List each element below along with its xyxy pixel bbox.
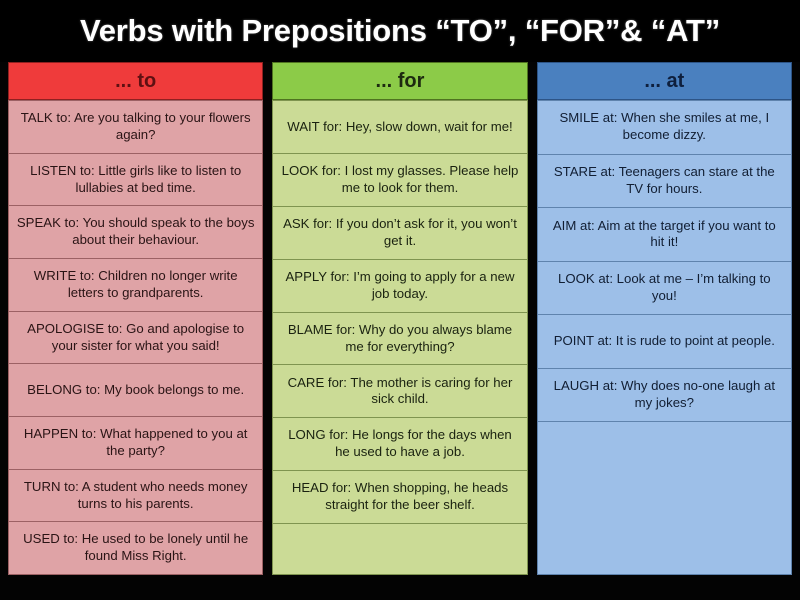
list-item: AIM at: Aim at the target if you want to… [537, 208, 792, 262]
cell-text: USED to: He used to be lonely until he f… [16, 531, 255, 565]
list-item: BELONG to: My book belongs to me. [8, 364, 263, 417]
cell-text: AIM at: Aim at the target if you want to… [545, 218, 784, 252]
list-item: WAIT for: Hey, slow down, wait for me! [272, 100, 527, 154]
empty-cell [537, 422, 792, 575]
cell-text: SPEAK to: You should speak to the boys a… [16, 215, 255, 249]
list-item: LONG for: He longs for the days when he … [272, 418, 527, 471]
cell-text: WAIT for: Hey, slow down, wait for me! [280, 119, 519, 136]
list-item: USED to: He used to be lonely until he f… [8, 522, 263, 575]
list-item: POINT at: It is rude to point at people. [537, 315, 792, 369]
list-item: HAPPEN to: What happened to you at the p… [8, 417, 263, 470]
list-item: LOOK at: Look at me – I’m talking to you… [537, 262, 792, 316]
cell-text: LAUGH at: Why does no-one laugh at my jo… [545, 378, 784, 412]
cell-text: POINT at: It is rude to point at people. [545, 333, 784, 350]
cell-text: APPLY for: I’m going to apply for a new … [280, 269, 519, 303]
cell-text: LONG for: He longs for the days when he … [280, 427, 519, 461]
cell-text: LISTEN to: Little girls like to listen t… [16, 163, 255, 197]
column-cells-at: SMILE at: When she smiles at me, I becom… [537, 100, 792, 575]
list-item: STARE at: Teenagers can stare at the TV … [537, 155, 792, 209]
list-item: HEAD for: When shopping, he heads straig… [272, 471, 527, 524]
cell-text: HEAD for: When shopping, he heads straig… [280, 480, 519, 514]
column-to: ... to TALK to: Are you talking to your … [8, 62, 263, 575]
column-cells-to: TALK to: Are you talking to your flowers… [8, 100, 263, 575]
column-at: ... at SMILE at: When she smiles at me, … [537, 62, 792, 575]
list-item: CARE for: The mother is caring for her s… [272, 365, 527, 418]
cell-text: APOLOGISE to: Go and apologise to your s… [16, 321, 255, 355]
page-title: Verbs with Prepositions “TO”, “FOR”& “AT… [80, 13, 720, 49]
list-item: TURN to: A student who needs money turns… [8, 470, 263, 523]
cell-text: STARE at: Teenagers can stare at the TV … [545, 164, 784, 198]
column-header-to: ... to [8, 62, 263, 100]
list-item: LOOK for: I lost my glasses. Please help… [272, 154, 527, 207]
cell-text: HAPPEN to: What happened to you at the p… [16, 426, 255, 460]
cell-text: CARE for: The mother is caring for her s… [280, 375, 519, 409]
column-cells-for: WAIT for: Hey, slow down, wait for me! L… [272, 100, 527, 575]
cell-text: BELONG to: My book belongs to me. [16, 382, 255, 399]
empty-cell [272, 524, 527, 575]
list-item: SPEAK to: You should speak to the boys a… [8, 206, 263, 259]
list-item: ASK for: If you don’t ask for it, you wo… [272, 207, 527, 260]
cell-text: ASK for: If you don’t ask for it, you wo… [280, 216, 519, 250]
cell-text: BLAME for: Why do you always blame me fo… [280, 322, 519, 356]
list-item: TALK to: Are you talking to your flowers… [8, 100, 263, 154]
column-for: ... for WAIT for: Hey, slow down, wait f… [272, 62, 527, 575]
column-header-for: ... for [272, 62, 527, 100]
cell-text: LOOK for: I lost my glasses. Please help… [280, 163, 519, 197]
cell-text: LOOK at: Look at me – I’m talking to you… [545, 271, 784, 305]
title-bar: Verbs with Prepositions “TO”, “FOR”& “AT… [0, 0, 800, 62]
list-item: WRITE to: Children no longer write lette… [8, 259, 263, 312]
columns-container: ... to TALK to: Are you talking to your … [0, 62, 800, 589]
list-item: LAUGH at: Why does no-one laugh at my jo… [537, 369, 792, 423]
list-item: LISTEN to: Little girls like to listen t… [8, 154, 263, 207]
poster: Verbs with Prepositions “TO”, “FOR”& “AT… [0, 0, 800, 600]
cell-text: TURN to: A student who needs money turns… [16, 479, 255, 513]
list-item: BLAME for: Why do you always blame me fo… [272, 313, 527, 366]
cell-text: WRITE to: Children no longer write lette… [16, 268, 255, 302]
list-item: APPLY for: I’m going to apply for a new … [272, 260, 527, 313]
cell-text: TALK to: Are you talking to your flowers… [16, 110, 255, 144]
cell-text: SMILE at: When she smiles at me, I becom… [545, 110, 784, 144]
column-header-at: ... at [537, 62, 792, 100]
list-item: APOLOGISE to: Go and apologise to your s… [8, 312, 263, 365]
list-item: SMILE at: When she smiles at me, I becom… [537, 100, 792, 155]
